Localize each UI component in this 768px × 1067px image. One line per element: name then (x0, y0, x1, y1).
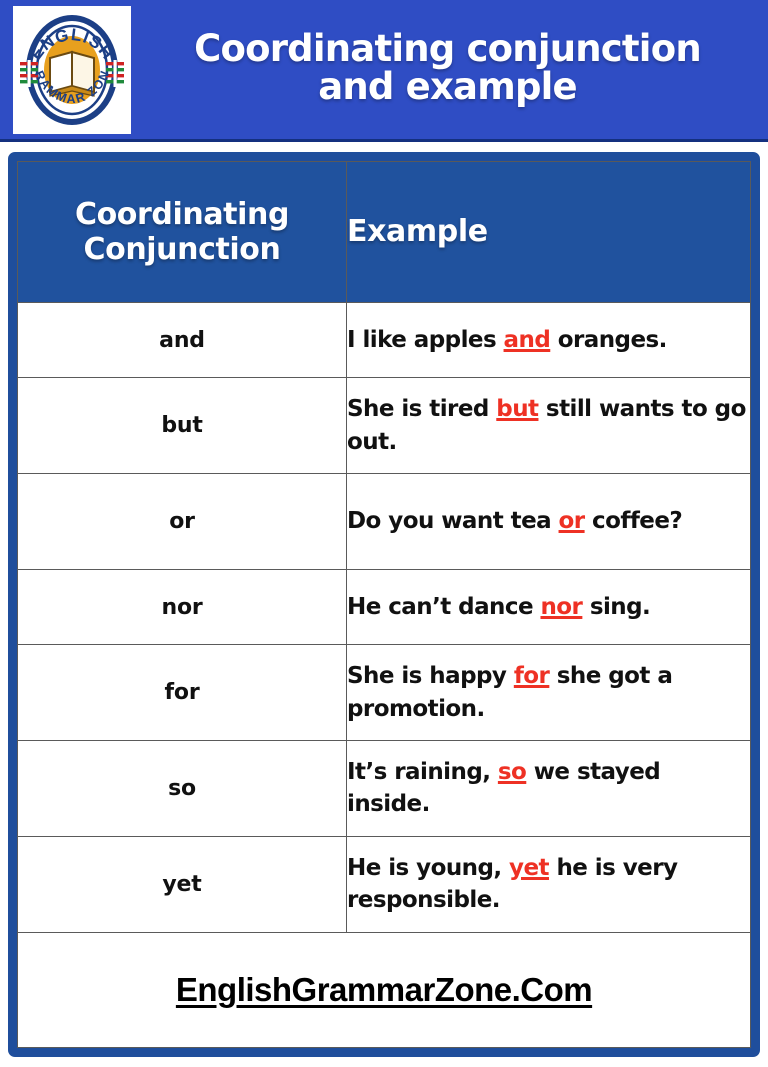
conjunction-table-card: Coordinating Conjunction Example and I l… (8, 152, 760, 1057)
footer-row: EnglishGrammarZone.Com (18, 932, 751, 1047)
header-banner: ENGLISH GRAMMAR ZONE Coordinating conjun… (0, 0, 768, 142)
conjunction-term: yet (18, 836, 347, 932)
example-text-before: He is young, (347, 855, 509, 881)
keyword-highlight: for (514, 663, 550, 689)
column-header-conjunction: Coordinating Conjunction (18, 162, 347, 303)
example-text-after: oranges. (550, 327, 667, 353)
example-sentence: She is happy for she got a promotion. (347, 645, 751, 741)
example-sentence: Do you want tea or coffee? (347, 474, 751, 570)
conjunction-table: Coordinating Conjunction Example and I l… (17, 161, 751, 1048)
page-title: Coordinating conjunction and example (131, 30, 768, 109)
conjunction-term: or (18, 474, 347, 570)
table-row: nor He can’t dance nor sing. (18, 569, 751, 644)
example-sentence: I like apples and oranges. (347, 303, 751, 378)
example-text-before: She is happy (347, 663, 514, 689)
table-header-row: Coordinating Conjunction Example (18, 162, 751, 303)
example-sentence: It’s raining, so we stayed inside. (347, 741, 751, 837)
footer-cell: EnglishGrammarZone.Com (18, 932, 751, 1047)
example-text-before: Do you want tea (347, 508, 559, 534)
page-title-line-2: and example (135, 68, 760, 106)
column-header-example-label: Example (347, 214, 488, 249)
column-header-example: Example (347, 162, 751, 303)
example-text-before: She is tired (347, 396, 496, 422)
column-header-conjunction-line-2: Conjunction (84, 232, 281, 267)
page-title-line-1: Coordinating conjunction (194, 27, 701, 70)
keyword-highlight: so (498, 759, 526, 785)
table-row: yet He is young, yet he is very responsi… (18, 836, 751, 932)
keyword-highlight: or (559, 508, 585, 534)
example-text-after: sing. (582, 594, 650, 620)
conjunction-term: but (18, 378, 347, 474)
example-text-after: coffee? (585, 508, 683, 534)
table-row: and I like apples and oranges. (18, 303, 751, 378)
example-sentence: She is tired but still wants to go out. (347, 378, 751, 474)
conjunction-term: nor (18, 569, 347, 644)
table-row: so It’s raining, so we stayed inside. (18, 741, 751, 837)
site-url-link[interactable]: EnglishGrammarZone.Com (176, 971, 592, 1008)
keyword-highlight: and (504, 327, 551, 353)
conjunction-term: and (18, 303, 347, 378)
keyword-highlight: but (496, 396, 538, 422)
column-header-conjunction-line-1: Coordinating (75, 197, 289, 232)
conjunction-term: for (18, 645, 347, 741)
conjunction-term: so (18, 741, 347, 837)
example-text-before: He can’t dance (347, 594, 540, 620)
site-logo: ENGLISH GRAMMAR ZONE (13, 6, 131, 134)
example-text-before: I like apples (347, 327, 504, 353)
table-row: for She is happy for she got a promotion… (18, 645, 751, 741)
keyword-highlight: nor (540, 594, 582, 620)
open-book-emblem-icon: ENGLISH GRAMMAR ZONE (19, 12, 125, 128)
table-row: but She is tired but still wants to go o… (18, 378, 751, 474)
infographic-page: ENGLISH GRAMMAR ZONE Coordinating conjun… (0, 0, 768, 1067)
table-body: and I like apples and oranges. but She i… (18, 303, 751, 1048)
keyword-highlight: yet (509, 855, 549, 881)
table-row: or Do you want tea or coffee? (18, 474, 751, 570)
example-text-before: It’s raining, (347, 759, 498, 785)
example-sentence: He can’t dance nor sing. (347, 569, 751, 644)
example-sentence: He is young, yet he is very responsible. (347, 836, 751, 932)
